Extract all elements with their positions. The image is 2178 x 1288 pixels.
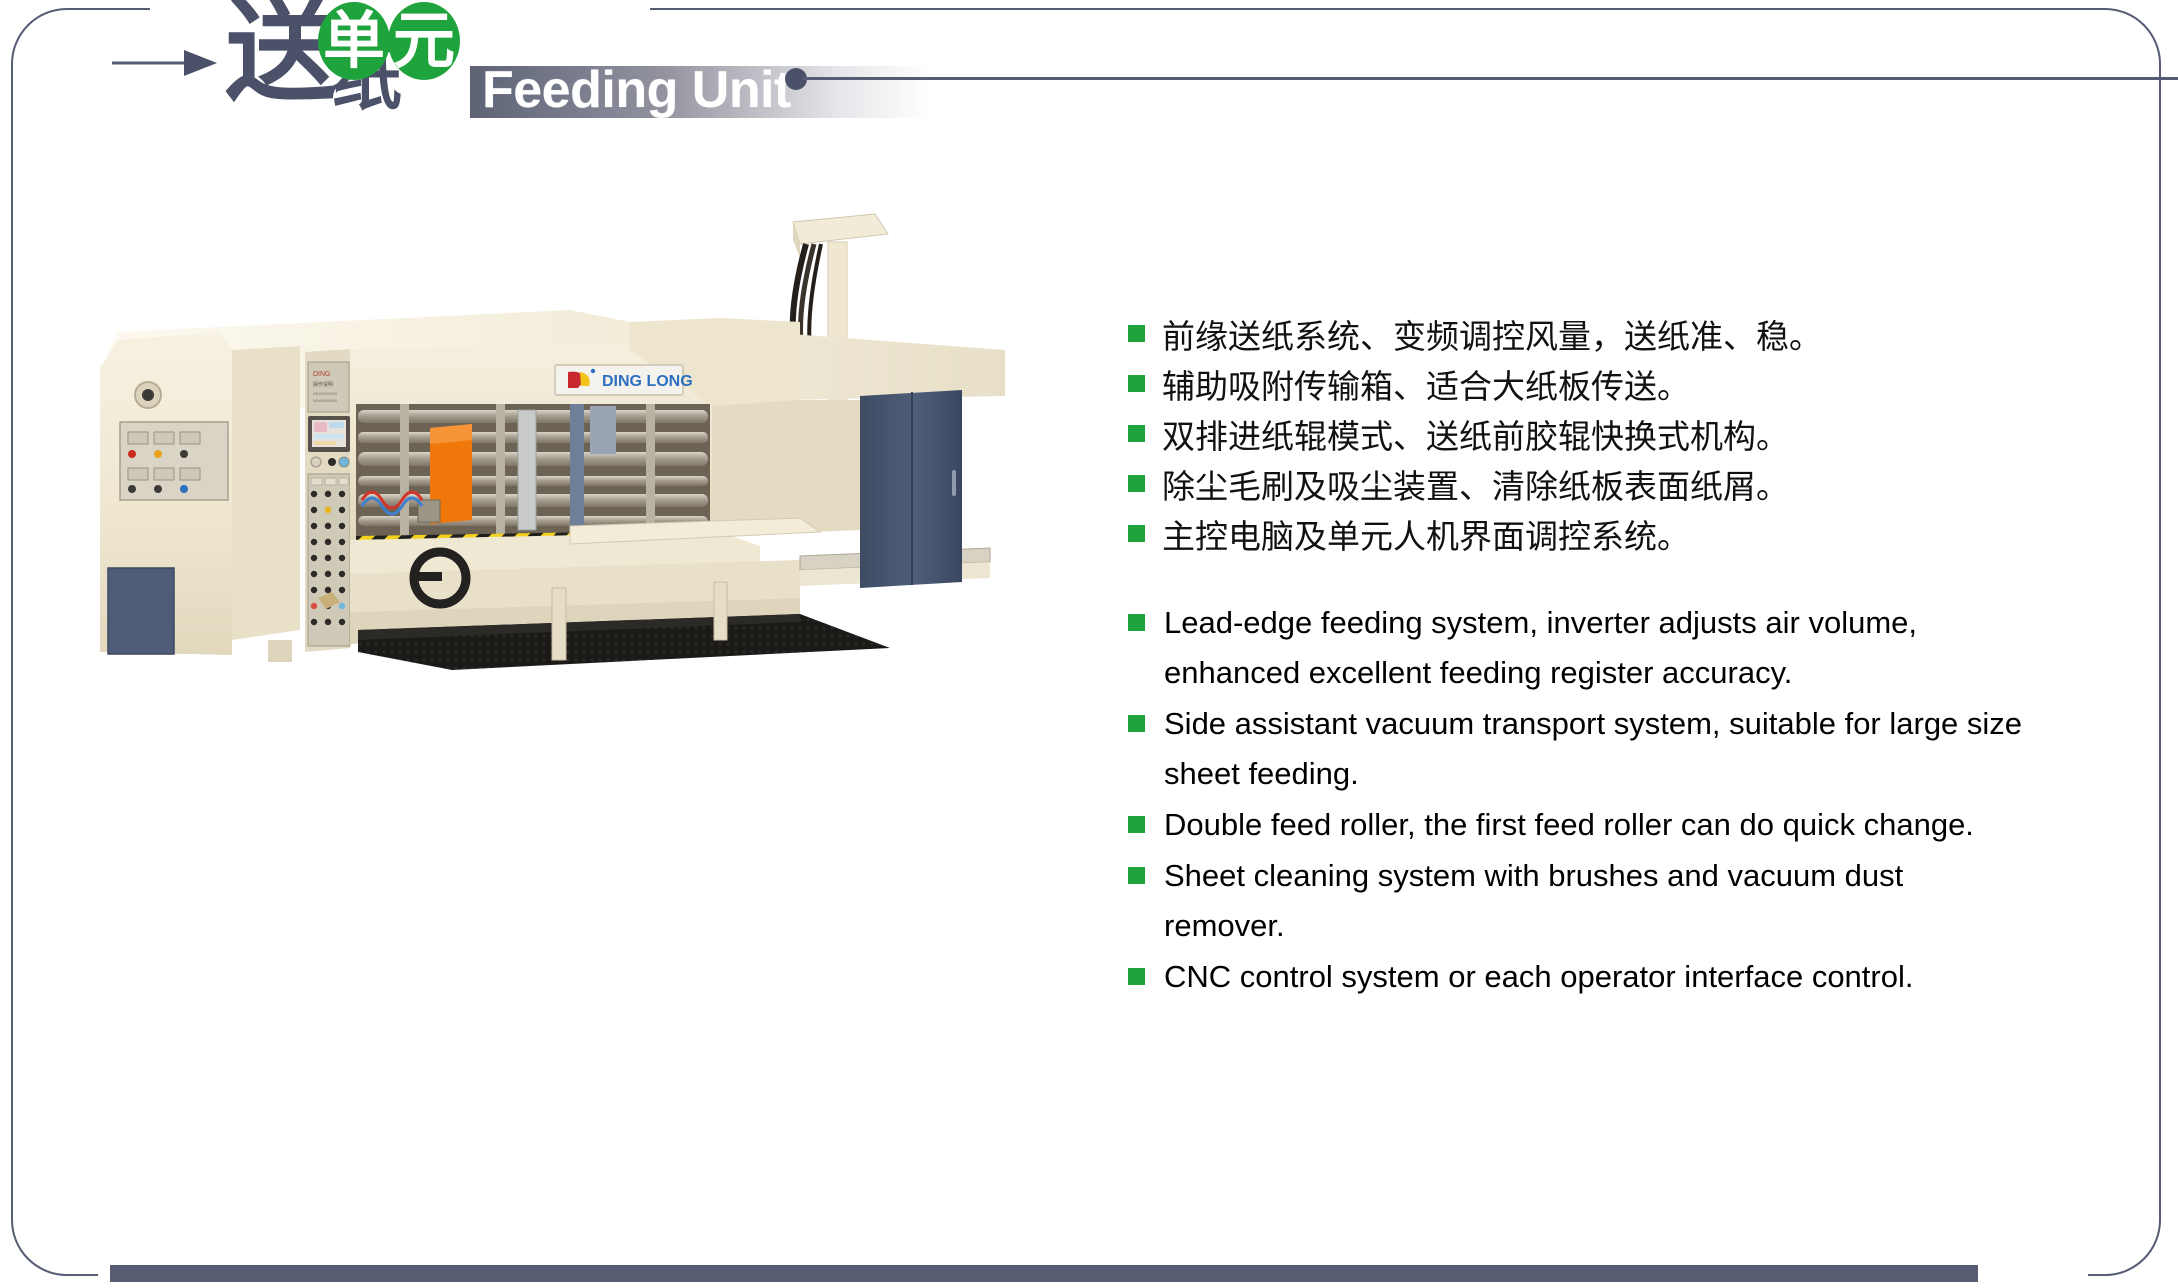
- list-item: Sheet cleaning system with brushes and v…: [1128, 851, 2058, 951]
- list-item: Side assistant vacuum transport system, …: [1128, 699, 2058, 799]
- list-item: 前缘送纸系统、变频调控风量，送纸准、稳。: [1128, 312, 2058, 362]
- list-item: 辅助吸附传输箱、适合大纸板传送。: [1128, 362, 2058, 412]
- feature-en-4: Sheet cleaning system with brushes and v…: [1164, 851, 2024, 951]
- bullet-square-icon: [1128, 325, 1145, 342]
- unit-badge-char-1-label: 单: [323, 10, 385, 72]
- feature-en-5: CNC control system or each operator inte…: [1164, 952, 2024, 1002]
- page-title-en: Feeding Unit: [482, 64, 791, 116]
- list-item: 除尘毛刷及吸尘装置、清除纸板表面纸屑。: [1128, 462, 2058, 512]
- feature-cn-2: 辅助吸附传输箱、适合大纸板传送。: [1162, 362, 1690, 412]
- svg-text:XXXXXXXXX: XXXXXXXXX: [313, 391, 337, 396]
- feeding-unit-machine-photo: DING 操作说明 XXXXXXXXX XXXXXXXXX: [100, 200, 1100, 670]
- list-item: 主控电脑及单元人机界面调控系统。: [1128, 512, 2058, 562]
- feature-en-1: Lead-edge feeding system, inverter adjus…: [1164, 598, 2024, 698]
- bullet-square-icon: [1128, 715, 1145, 732]
- bullet-square-icon: [1128, 968, 1145, 985]
- bullet-square-icon: [1128, 475, 1145, 492]
- machine-rear-cabinet: [860, 390, 962, 588]
- machine-brand-plate: DING LONG: [555, 365, 693, 395]
- footer-bar: [110, 1265, 1978, 1282]
- page-title-cn-primary: 送: [225, 0, 335, 108]
- machine-roller-assembly: [356, 404, 710, 536]
- feature-cn-1: 前缘送纸系统、变频调控风量，送纸准、稳。: [1162, 312, 1822, 362]
- list-item: CNC control system or each operator inte…: [1128, 952, 2058, 1002]
- feature-text-column: 前缘送纸系统、变频调控风量，送纸准、稳。 辅助吸附传输箱、适合大纸板传送。 双排…: [1128, 312, 2058, 1003]
- bullet-square-icon: [1128, 614, 1145, 631]
- page-title-block: 送 纸 单 元 Feeding Unit: [150, 0, 990, 150]
- feature-cn-5: 主控电脑及单元人机界面调控系统。: [1162, 512, 1690, 562]
- svg-text:DING: DING: [313, 371, 331, 378]
- bullet-square-icon: [1128, 375, 1145, 392]
- bullet-square-icon: [1128, 816, 1145, 833]
- feature-list-en: Lead-edge feeding system, inverter adjus…: [1128, 598, 2058, 1002]
- title-rule-line: [802, 77, 2178, 80]
- bullet-square-icon: [1128, 425, 1145, 442]
- bullet-square-icon: [1128, 867, 1145, 884]
- svg-text:XXXXXXXXX: XXXXXXXXX: [313, 398, 337, 403]
- svg-text:操作说明: 操作说明: [313, 381, 333, 388]
- feature-list-cn: 前缘送纸系统、变频调控风量，送纸准、稳。 辅助吸附传输箱、适合大纸板传送。 双排…: [1128, 312, 2058, 562]
- bullet-square-icon: [1128, 525, 1145, 542]
- unit-badge-char-1: 单: [318, 2, 390, 80]
- feature-cn-4: 除尘毛刷及吸尘装置、清除纸板表面纸屑。: [1162, 462, 1789, 512]
- feature-cn-3: 双排进纸辊模式、送纸前胶辊快换式机构。: [1162, 412, 1789, 462]
- unit-badge-char-2: 元: [388, 2, 460, 80]
- feature-en-3: Double feed roller, the first feed rolle…: [1164, 800, 2024, 850]
- list-item: Double feed roller, the first feed rolle…: [1128, 800, 2058, 850]
- feature-en-2: Side assistant vacuum transport system, …: [1164, 699, 2024, 799]
- machine-left-tower: [100, 332, 300, 655]
- machine-brand-label: DING LONG: [602, 373, 693, 390]
- list-item: 双排进纸辊模式、送纸前胶辊快换式机构。: [1128, 412, 2058, 462]
- unit-badge-char-2-label: 元: [393, 10, 455, 72]
- list-item: Lead-edge feeding system, inverter adjus…: [1128, 598, 2058, 698]
